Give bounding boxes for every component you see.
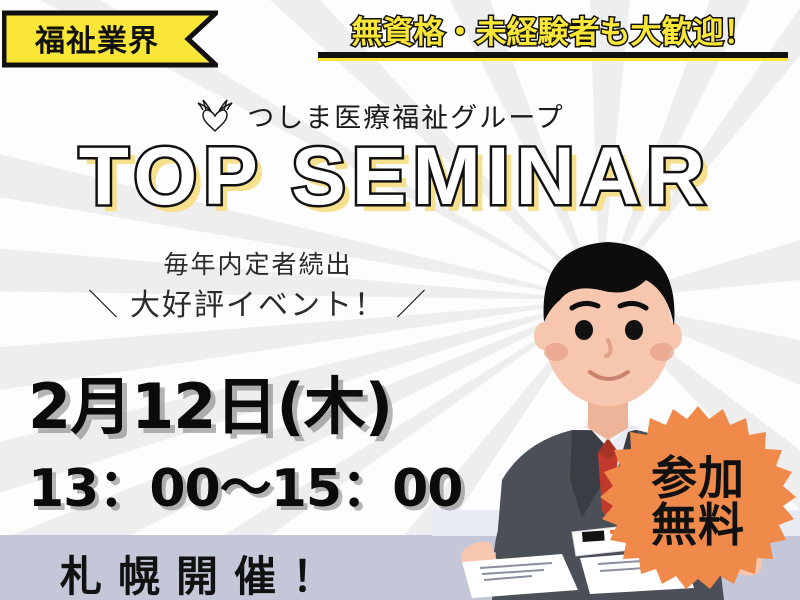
free-participation-badge: 参加 無料	[598, 404, 798, 600]
slash-right-icon: ／	[396, 286, 428, 327]
subcopy-line-2-text: 大好評イベント！	[130, 286, 386, 327]
venue-text: 札幌開催！	[60, 543, 350, 600]
headline-block: 無資格・未経験者も大歓迎！	[318, 16, 788, 61]
headline-text: 無資格・未経験者も大歓迎！	[318, 16, 788, 50]
winged-heart-icon	[195, 99, 235, 133]
event-date: 2月12日(木)	[28, 356, 392, 446]
subcopy-line-1: 毎年内定者続出	[48, 248, 468, 282]
event-time: 13：00〜15：00	[28, 446, 462, 521]
seminar-title-text: TOP SEMINAR	[0, 134, 790, 220]
seminar-title: TOP SEMINAR TOP SEMINAR	[0, 134, 790, 220]
poster-canvas: 福祉業界 無資格・未経験者も大歓迎！ つしま医療福祉グループ TOP SEMIN…	[0, 0, 800, 600]
badge-line-1: 参加	[651, 455, 745, 502]
category-ribbon: 福祉業界	[2, 10, 218, 66]
category-ribbon-label: 福祉業界	[2, 10, 192, 66]
headline-underline	[318, 52, 788, 61]
free-participation-label: 参加 無料	[598, 404, 798, 600]
subcopy-block: 毎年内定者続出 ＼ 大好評イベント！ ／	[48, 248, 468, 326]
group-identity: つしま医療福祉グループ	[0, 96, 760, 135]
badge-line-2: 無料	[651, 502, 745, 549]
slash-left-icon: ＼	[88, 286, 120, 327]
group-name-text: つしま医療福祉グループ	[247, 96, 564, 135]
subcopy-line-2: ＼ 大好評イベント！ ／	[48, 286, 468, 327]
